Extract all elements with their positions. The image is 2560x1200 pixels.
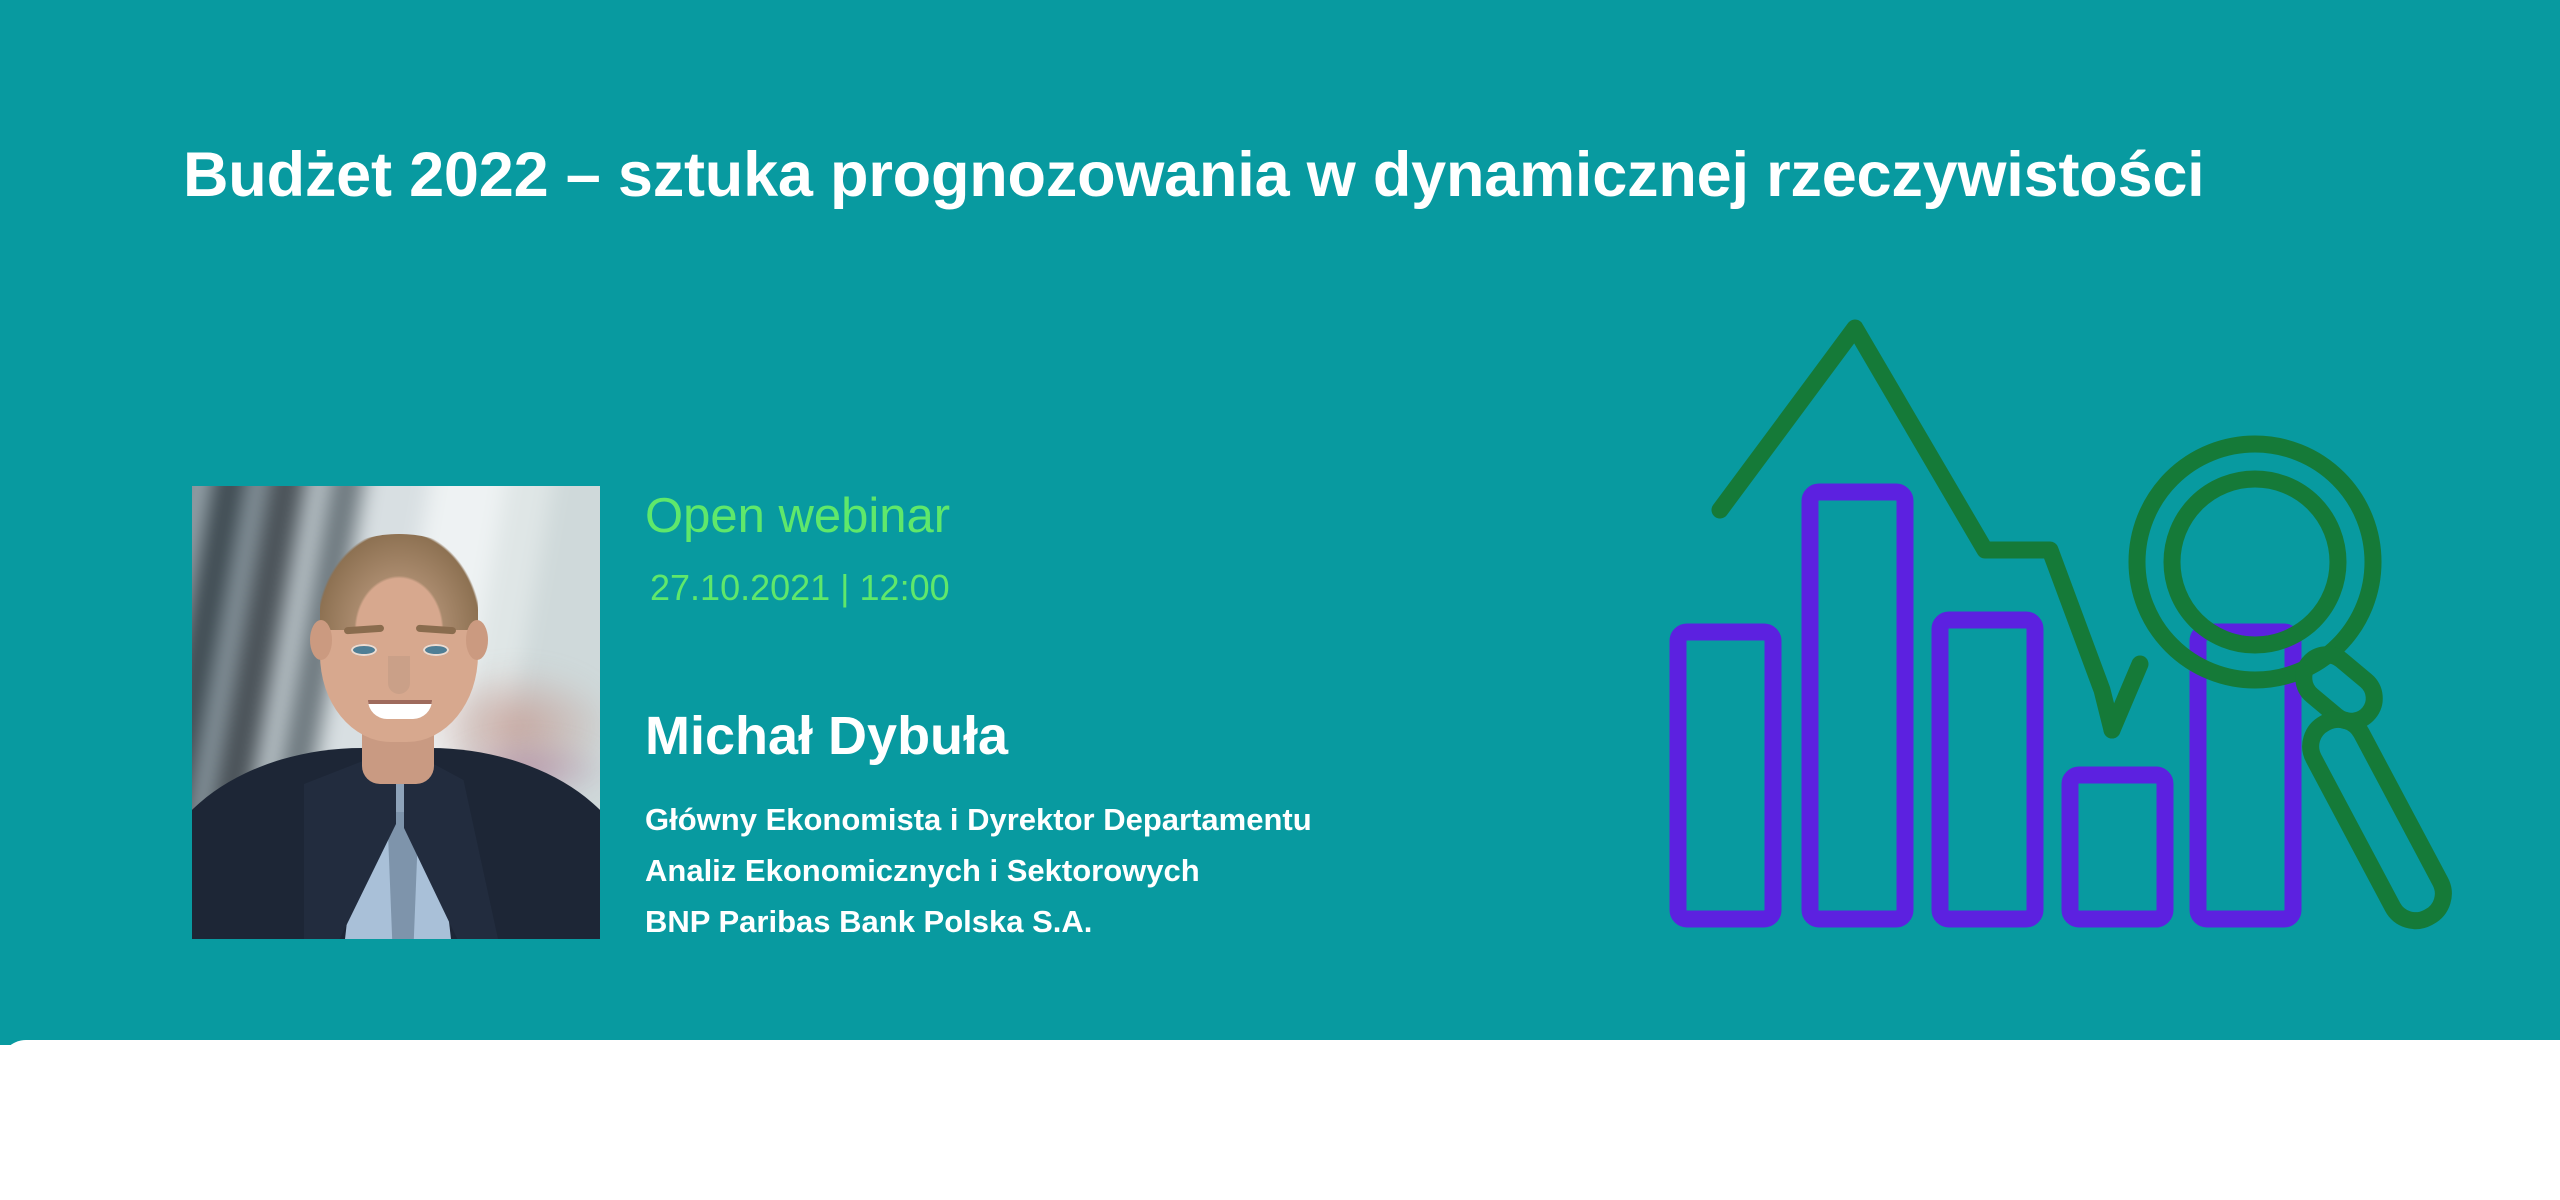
bar-chart-magnifier-illustration [1650,280,2480,940]
speaker-role-line-3: BNP Paribas Bank Polska S.A. [645,896,1312,947]
speaker-ear-left [310,620,332,660]
footer-bar: BNP PARIBAS Swiss Chamber Poland [0,1040,2560,1200]
trend-line-icon [1720,328,2140,730]
event-datetime: 27.10.2021 | 12:00 [650,566,950,610]
webinar-banner: Budżet 2022 – sztuka prognozowania w dyn… [0,0,2560,1200]
speaker-eye-left [351,644,377,656]
page-title: Budżet 2022 – sztuka prognozowania w dyn… [183,137,2443,213]
speaker-nose [388,656,410,694]
event-kicker: Open webinar [645,488,950,544]
speaker-eye-right [423,644,449,656]
speaker-name: Michał Dybuła [645,705,1008,767]
speaker-mouth [368,700,432,719]
speaker-role-block: Główny Ekonomista i Dyrektor Departament… [645,794,1312,947]
speaker-ear-right [466,620,488,660]
speaker-role-line-1: Główny Ekonomista i Dyrektor Departament… [645,794,1312,845]
speaker-hair [320,534,478,630]
speaker-photo [192,486,600,939]
speaker-role-line-2: Analiz Ekonomicznych i Sektorowych [645,845,1312,896]
